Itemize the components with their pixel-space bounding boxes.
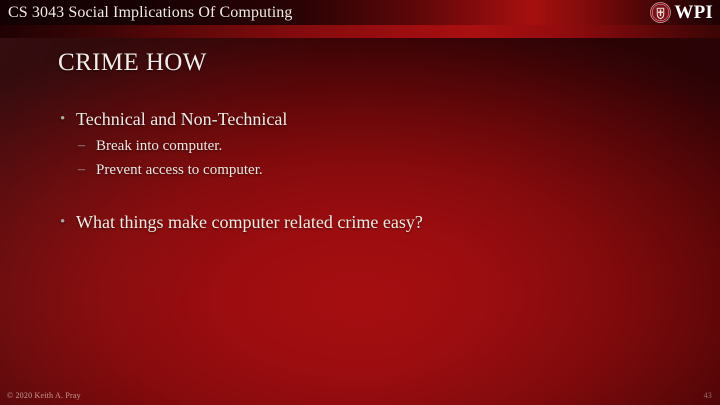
bullet-text: What things make computer related crime … (76, 212, 423, 232)
bullet-item: • Technical and Non-Technical (58, 106, 678, 132)
wpi-logo: WPI (650, 1, 713, 24)
slide-header-bar: CS 3043 Social Implications Of Computing… (0, 0, 720, 25)
bullet-marker-dot: • (60, 209, 65, 235)
bullet-item: – Break into computer. (58, 135, 678, 157)
header-accent-band (0, 25, 720, 38)
copyright-notice: © 2020 Keith A. Pray (7, 391, 81, 401)
bullet-text: Technical and Non-Technical (76, 109, 287, 129)
slide: CS 3043 Social Implications Of Computing… (0, 0, 720, 405)
slide-body: • Technical and Non-Technical – Break in… (58, 106, 678, 238)
wpi-seal-icon (650, 2, 671, 23)
wpi-wordmark: WPI (674, 2, 713, 23)
bullet-text: Break into computer. (96, 138, 222, 154)
course-title: CS 3043 Social Implications Of Computing (8, 2, 292, 23)
bullet-marker-dot: • (60, 106, 65, 132)
bullet-marker-dash: – (78, 159, 85, 181)
bullet-text: Prevent access to computer. (96, 162, 263, 178)
bullet-spacer (58, 183, 678, 209)
bullet-item: – Prevent access to computer. (58, 159, 678, 181)
bullet-item: • What things make computer related crim… (58, 209, 678, 235)
page-number: 43 (704, 391, 712, 401)
bullet-marker-dash: – (78, 135, 85, 157)
slide-title: CRIME HOW (58, 48, 207, 78)
